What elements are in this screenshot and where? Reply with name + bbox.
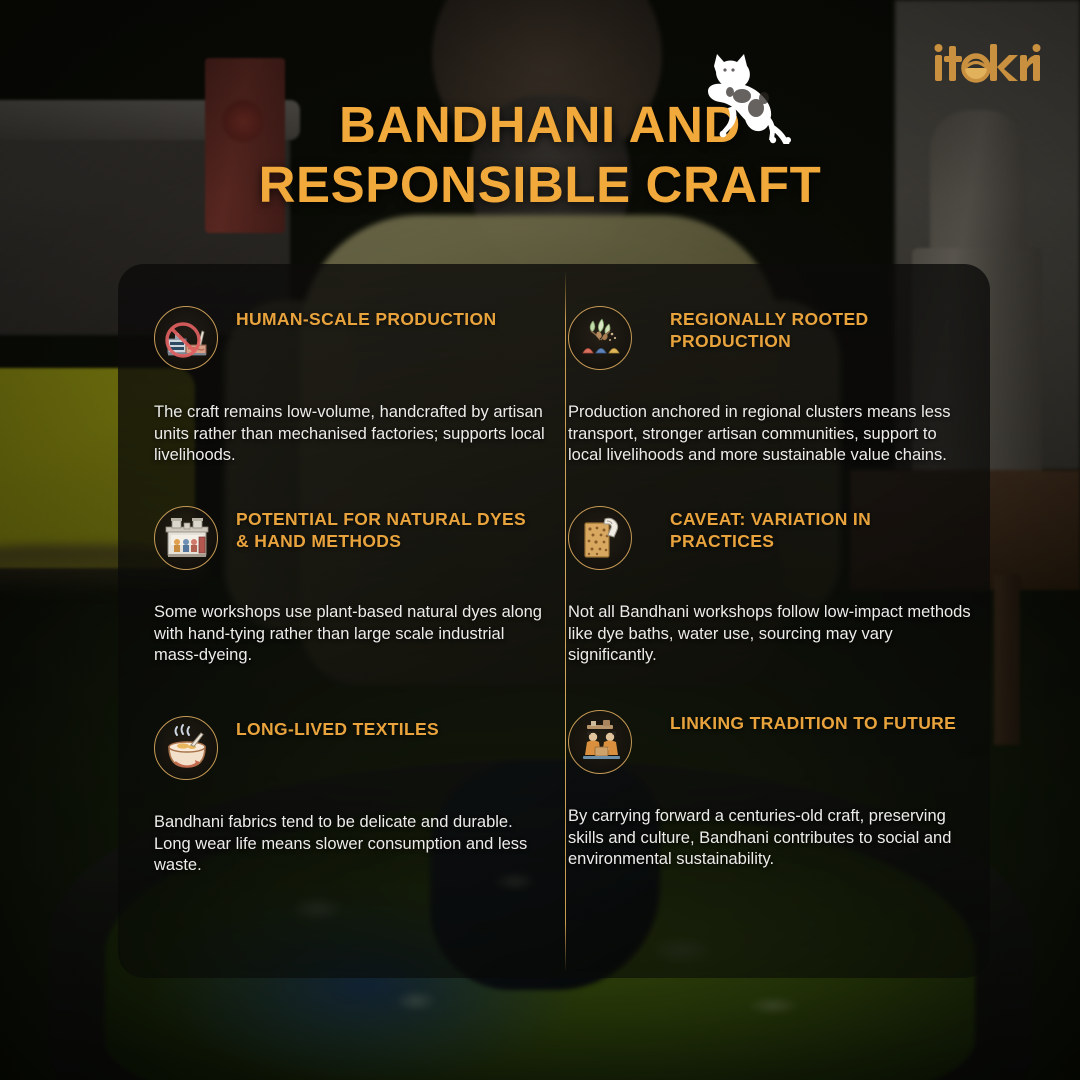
feature-item-human-scale-production: HUMAN-SCALE PRODUCTION The craft remains… (118, 306, 554, 378)
header: BANDHANI AND RESPONSIBLE CRAFT (0, 0, 1080, 252)
hand-holding-fabric-icon (568, 506, 632, 570)
feature-header: POTENTIAL FOR NATURAL DYES & HAND METHOD… (118, 506, 554, 578)
cat-logo-icon (684, 52, 796, 144)
no-factory-icon (154, 306, 218, 370)
feature-item-caveat-variation-in-practices: CAVEAT: VARIATION IN PRACTICES Not all B… (554, 506, 990, 578)
content-panel: HUMAN-SCALE PRODUCTION The craft remains… (118, 264, 990, 978)
feature-title: POTENTIAL FOR NATURAL DYES & HAND METHOD… (236, 508, 536, 552)
page-title-line-1: BANDHANI AND (0, 95, 1080, 155)
feature-body: Some workshops use plant-based natural d… (154, 602, 546, 667)
page-title: BANDHANI AND RESPONSIBLE CRAFT (0, 95, 1080, 215)
feature-item-linking-tradition-to-future: LINKING TRADITION TO FUTURE By carrying … (554, 710, 990, 782)
feature-body: Bandhani fabrics tend to be delicate and… (154, 812, 546, 877)
feature-header: REGIONALLY ROOTED PRODUCTION (554, 306, 990, 378)
feature-item-long-lived-textiles: LONG-LIVED TEXTILES Bandhani fabrics ten… (118, 716, 554, 788)
left-column: HUMAN-SCALE PRODUCTION The craft remains… (118, 264, 554, 978)
feature-item-natural-dyes-hand-methods: POTENTIAL FOR NATURAL DYES & HAND METHOD… (118, 506, 554, 578)
brand-logo[interactable] (932, 40, 1042, 88)
workshop-building-icon (154, 506, 218, 570)
feature-item-regionally-rooted-production: REGIONALLY ROOTED PRODUCTION Production … (554, 306, 990, 378)
feature-body: The craft remains low-volume, handcrafte… (154, 402, 546, 467)
feature-header: HUMAN-SCALE PRODUCTION (118, 306, 554, 378)
steaming-dye-pot-icon (154, 716, 218, 780)
feature-title: HUMAN-SCALE PRODUCTION (236, 308, 536, 330)
feature-title: LONG-LIVED TEXTILES (236, 718, 536, 740)
feature-title: REGIONALLY ROOTED PRODUCTION (670, 308, 970, 352)
feature-title: CAVEAT: VARIATION IN PRACTICES (670, 508, 970, 552)
feature-header: CAVEAT: VARIATION IN PRACTICES (554, 506, 990, 578)
leaves-and-dye-powders-icon (568, 306, 632, 370)
basket-o-icon (964, 56, 988, 80)
page-title-line-2: RESPONSIBLE CRAFT (0, 155, 1080, 215)
two-artisans-icon (568, 710, 632, 774)
feature-body: Production anchored in regional clusters… (568, 402, 972, 467)
feature-title: LINKING TRADITION TO FUTURE (670, 712, 970, 734)
feature-header: LONG-LIVED TEXTILES (118, 716, 554, 788)
right-column: REGIONALLY ROOTED PRODUCTION Production … (554, 264, 990, 978)
feature-body: By carrying forward a centuries-old craf… (568, 806, 972, 871)
feature-header: LINKING TRADITION TO FUTURE (554, 710, 990, 782)
feature-body: Not all Bandhani workshops follow low-im… (568, 602, 972, 667)
